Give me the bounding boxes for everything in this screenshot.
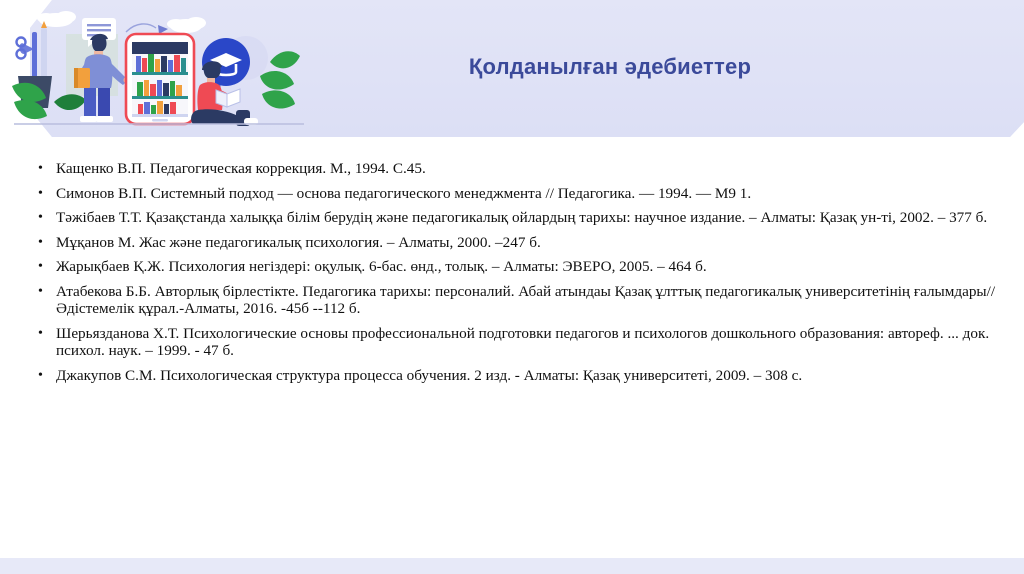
list-item: • Джакупов С.М. Психологическая структур… [34, 367, 996, 385]
list-item: • Атабекова Б.Б. Авторлық бірлестікте. П… [34, 283, 996, 318]
list-item: • Симонов В.П. Системный подход — основа… [34, 185, 996, 203]
bullet-glyph: • [38, 258, 43, 276]
list-item: • Шерьязданова Х.Т. Психологические осно… [34, 325, 996, 360]
list-item-text: Тәжібаев Т.Т. Қазақстанда халыққа білім … [56, 209, 987, 226]
phone-bookshelf-illustration [126, 34, 194, 124]
bullet-glyph: • [38, 367, 43, 385]
list-item-text: Жарықбаев Қ.Ж. Психология негіздері: оқу… [56, 258, 707, 275]
list-item: • Мұқанов М. Жас және педагогикалық псих… [34, 234, 996, 252]
bullet-glyph: • [38, 283, 43, 301]
bullet-glyph: • [38, 325, 43, 343]
digital-library-illustration [8, 6, 308, 134]
page-title: Қолданылған әдебиеттер [330, 54, 890, 80]
list-item-text: Джакупов С.М. Психологическая структура … [56, 367, 802, 384]
bullet-glyph: • [38, 209, 43, 227]
list-item-text: Кащенко В.П. Педагогическая коррекция. М… [56, 160, 426, 177]
cloud-icon [167, 17, 206, 33]
open-book-icon [216, 89, 240, 107]
slide-root: Қолданылған әдебиеттер • Кащенко В.П. Пе… [0, 0, 1024, 574]
references-list: • Кащенко В.П. Педагогическая коррекция.… [34, 160, 996, 391]
list-item: • Тәжібаев Т.Т. Қазақстанда халыққа білі… [34, 209, 996, 227]
bullet-glyph: • [38, 234, 43, 252]
paper-plane-icon [126, 24, 168, 34]
bullet-glyph: • [38, 185, 43, 203]
list-item-text: Симонов В.П. Системный подход — основа п… [56, 185, 751, 202]
book-icon [74, 68, 90, 88]
bullet-glyph: • [38, 160, 43, 178]
list-item: • Жарықбаев Қ.Ж. Психология негіздері: о… [34, 258, 996, 276]
list-item: • Кащенко В.П. Педагогическая коррекция.… [34, 160, 996, 178]
list-item-text: Атабекова Б.Б. Авторлық бірлестікте. Пед… [56, 283, 995, 318]
list-item-text: Мұқанов М. Жас және педагогикалық психол… [56, 234, 541, 251]
plant-leaf-icon [54, 94, 86, 110]
list-item-text: Шерьязданова Х.Т. Психологические основы… [56, 325, 989, 360]
bottom-accent-strip [0, 558, 1024, 574]
